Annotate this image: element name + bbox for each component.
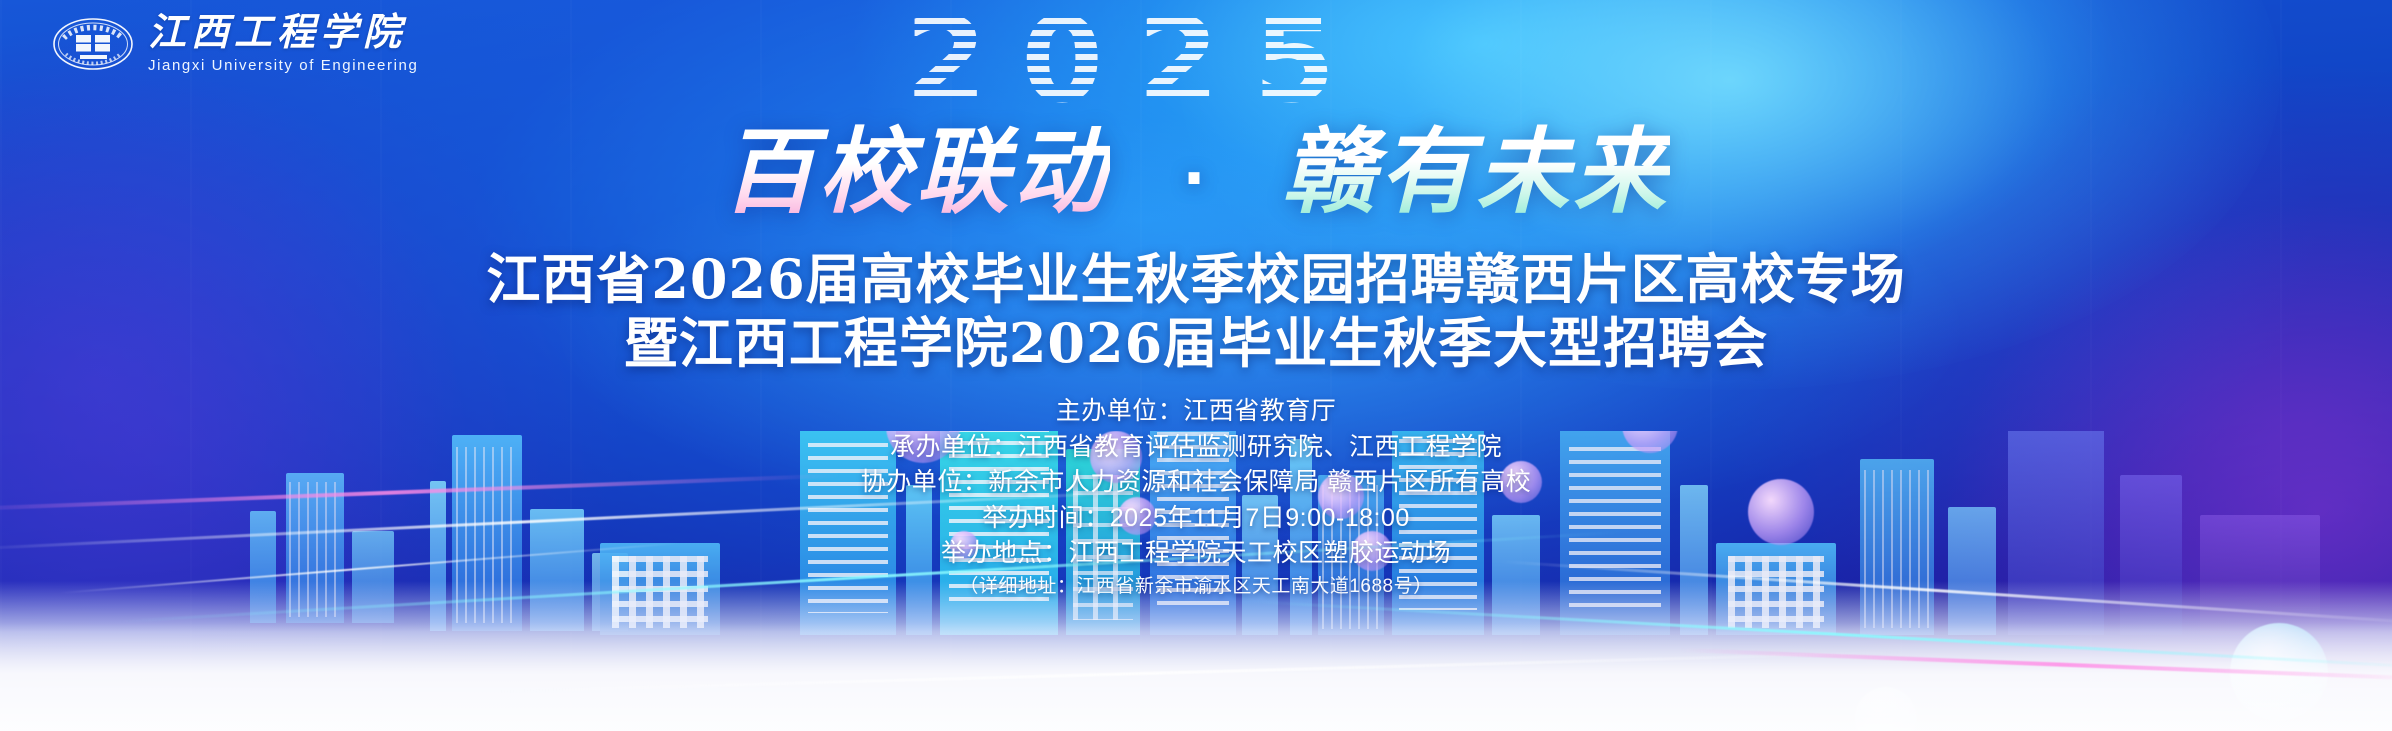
subtitle: 江西省2026届高校毕业生秋季校园招聘赣西片区高校专场 暨江西工程学院2026届… <box>0 248 2392 375</box>
detail-label: 举办时间： <box>982 504 1110 532</box>
event-details: 主办单位：江西省教育厅 承办单位：江西省教育评估监测研究院、江西工程学院 协办单… <box>0 394 2392 600</box>
detail-row-host: 承办单位：江西省教育评估监测研究院、江西工程学院 <box>0 430 2392 466</box>
detail-value: 江西省教育厅 <box>1183 397 1336 425</box>
recruitment-fair-banner: 江西工程学院 Jiangxi University of Engineering… <box>0 0 2392 731</box>
detail-row-coorganizer: 协办单位：新余市人力资源和社会保障局 赣西片区所有高校 <box>0 465 2392 501</box>
detail-label: 主办单位： <box>1056 397 1184 425</box>
detail-row-location: 举办地点：江西工程学院天工校区塑胶运动场 <box>0 536 2392 572</box>
year-2025: 2025 <box>905 6 1465 114</box>
detail-value: 江西省教育评估监测研究院、江西工程学院 <box>1018 433 1503 461</box>
university-name-en: Jiangxi University of Engineering <box>148 58 418 73</box>
university-name-cn: 江西工程学院 <box>148 14 418 52</box>
detail-label: 协办单位： <box>861 468 989 496</box>
detail-label: 承办单位： <box>890 433 1018 461</box>
detail-row-address-note: （详细地址：江西省新余市渝水区天工南大道1688号） <box>0 574 2392 601</box>
university-seal-icon <box>52 16 134 72</box>
detail-label: 举办地点： <box>941 539 1069 567</box>
headline-part-b: 赣有未来 <box>1282 118 1670 226</box>
headline: 百校联动 · 赣有未来 <box>0 126 2392 219</box>
detail-value: 新余市人力资源和社会保障局 赣西片区所有高校 <box>988 468 1531 496</box>
detail-row-time: 举办时间：2025年11月7日9:00-18:00 <box>0 501 2392 537</box>
headline-part-a: 百校联动 <box>722 118 1110 226</box>
subtitle-line-2: 暨江西工程学院2026届毕业生秋季大型招聘会 <box>0 312 2392 376</box>
ground-haze-inner <box>0 623 2392 731</box>
detail-value: 2025年11月7日9:00-18:00 <box>1110 504 1410 532</box>
headline-separator: · <box>1146 142 1246 215</box>
university-logo: 江西工程学院 Jiangxi University of Engineering <box>52 14 418 73</box>
subtitle-line-1: 江西省2026届高校毕业生秋季校园招聘赣西片区高校专场 <box>0 248 2392 312</box>
detail-value: 江西工程学院天工校区塑胶运动场 <box>1069 539 1452 567</box>
detail-row-organizer: 主办单位：江西省教育厅 <box>0 394 2392 430</box>
